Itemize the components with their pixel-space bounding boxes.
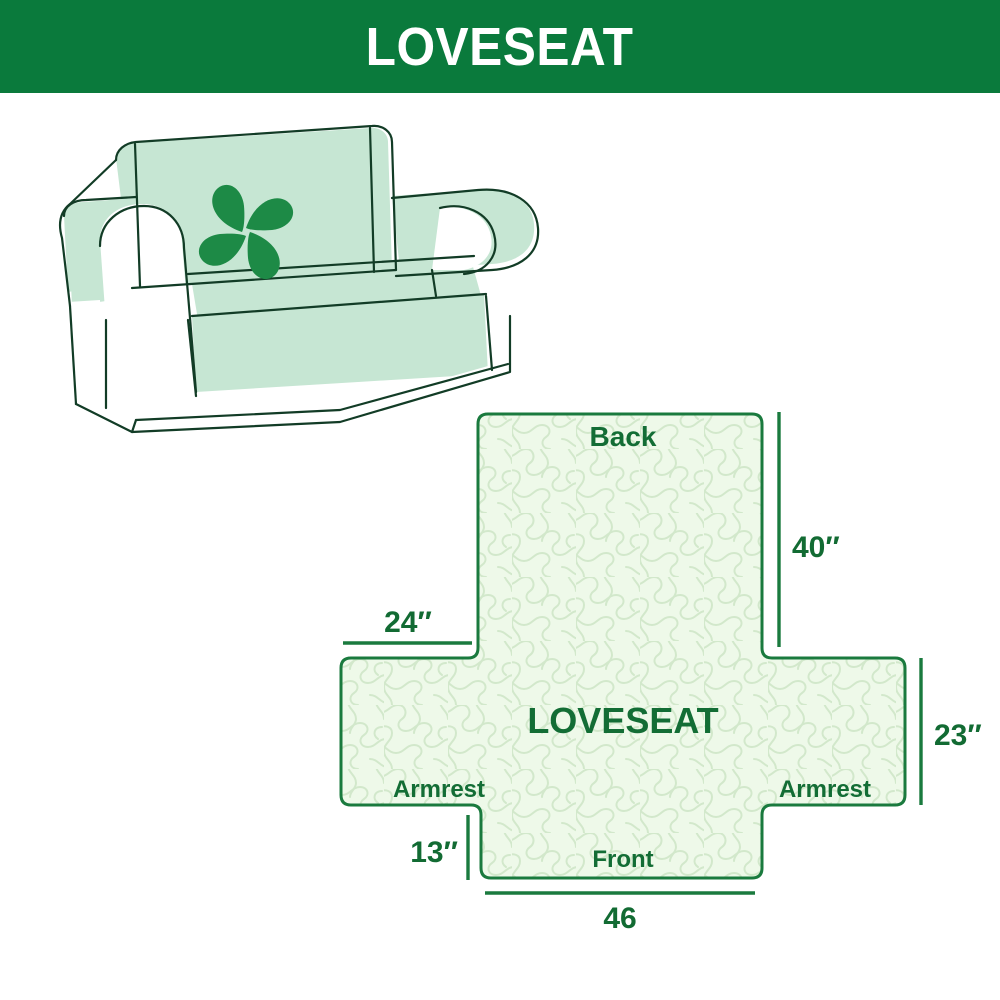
- dimension-label-total-width: 46: [603, 902, 636, 935]
- header-banner: LOVESEAT: [0, 0, 1000, 93]
- dimension-label-armrest-depth: 23″: [934, 719, 982, 752]
- panel-label-armrest-left: Armrest: [393, 776, 485, 803]
- panel-label-front: Front: [592, 846, 653, 873]
- panel-label-armrest-right: Armrest: [779, 776, 871, 803]
- panel-label-center: LOVESEAT: [527, 700, 718, 741]
- dimension-back-top-offset: 24″: [343, 606, 472, 643]
- flat-pattern-diagram: Back LOVESEAT Armrest Armrest Front 40″ …: [320, 385, 1000, 945]
- dimension-total-width: 46: [485, 893, 755, 935]
- cover-outline: [341, 414, 905, 878]
- dimension-label-front-skirt: 13″: [410, 836, 458, 869]
- size-chart-page: LOVESEAT: [0, 0, 1000, 1000]
- dimension-back-height: 40″: [779, 412, 840, 647]
- panel-label-back: Back: [590, 421, 657, 452]
- dimension-label-back-top-offset: 24″: [384, 606, 432, 639]
- dimension-front-skirt: 13″: [410, 815, 468, 880]
- page-title: LOVESEAT: [366, 20, 634, 74]
- dimension-armrest-depth: 23″: [921, 658, 982, 805]
- dimension-label-back-height: 40″: [792, 531, 840, 564]
